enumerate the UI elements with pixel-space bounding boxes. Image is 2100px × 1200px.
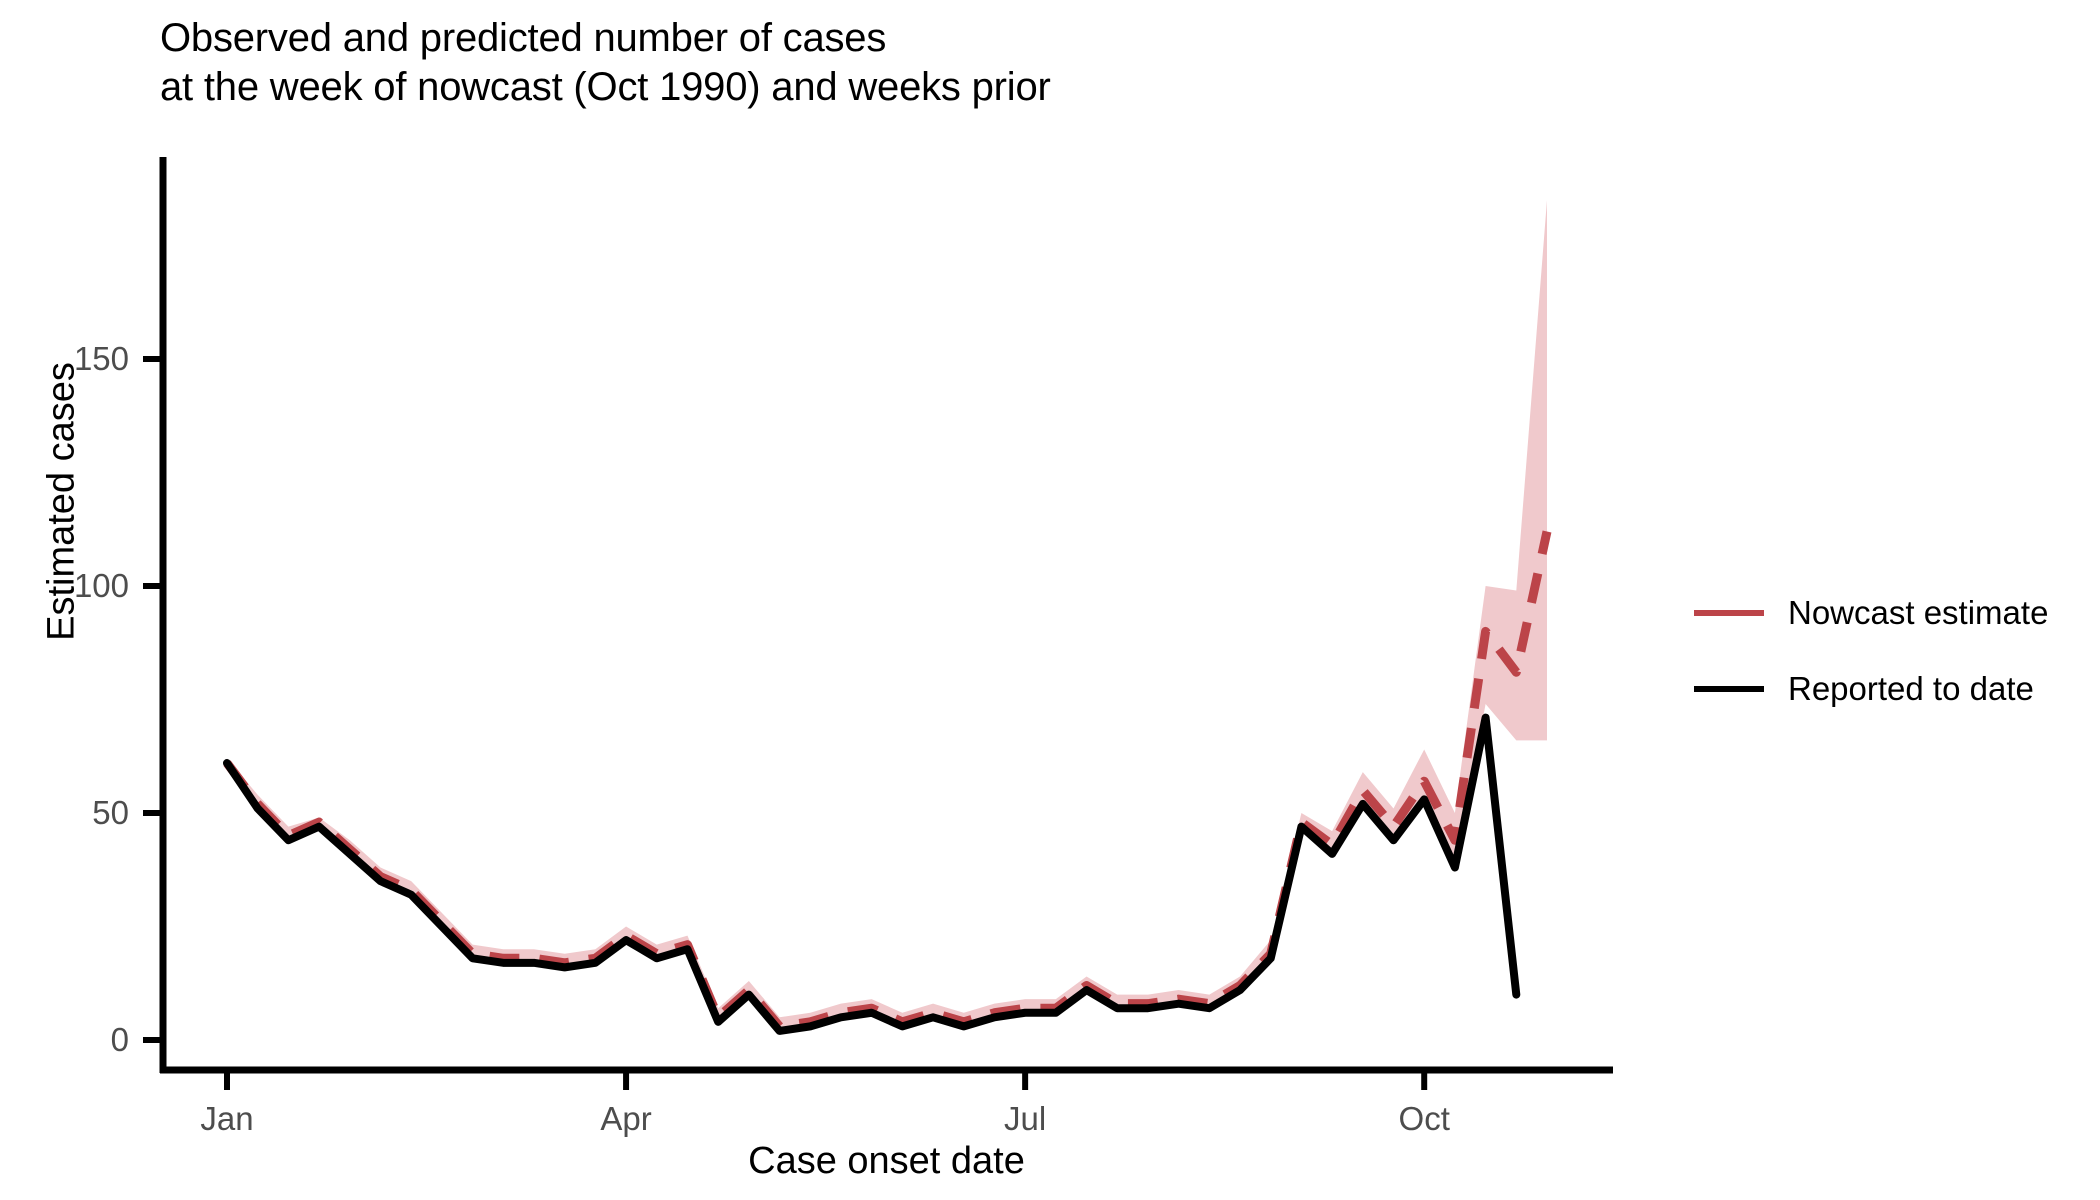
legend-item[interactable]: Reported to date	[1690, 651, 2048, 727]
chart-figure: Observed and predicted number of cases a…	[0, 0, 2100, 1200]
legend-line-icon	[1690, 666, 1768, 712]
legend-item[interactable]: Nowcast estimate	[1690, 575, 2048, 651]
y-tick-label: 0	[0, 1021, 129, 1059]
y-tick-label: 50	[0, 794, 129, 832]
legend-key-line	[1694, 686, 1764, 692]
plot-axes	[143, 157, 1613, 1090]
x-tick-label: Oct	[1399, 1100, 1450, 1138]
x-axis-title: Case onset date	[160, 1140, 1613, 1183]
x-tick-label: Jul	[1004, 1100, 1046, 1138]
reported-to-date-line	[227, 718, 1516, 1031]
nowcast-estimate-line	[227, 532, 1547, 1027]
x-tick-label: Apr	[600, 1100, 651, 1138]
legend-label: Nowcast estimate	[1788, 594, 2048, 632]
y-axis-title: Estimated cases	[41, 292, 84, 712]
legend-label: Reported to date	[1788, 670, 2034, 708]
chart-legend: Nowcast estimateReported to date	[1690, 575, 2048, 727]
x-tick-label: Jan	[200, 1100, 253, 1138]
legend-key-line	[1694, 610, 1764, 616]
legend-line-icon	[1690, 590, 1768, 636]
